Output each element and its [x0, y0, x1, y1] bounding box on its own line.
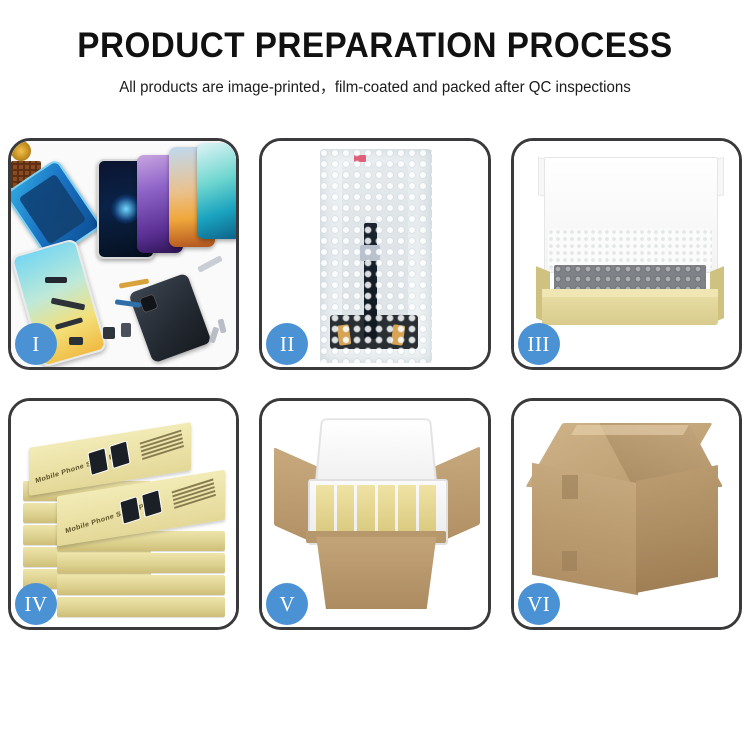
- step-badge-3: III: [518, 323, 560, 365]
- box-stack: Mobile Phone Spare Parts Mobile Pho: [23, 417, 229, 617]
- label-screen-icon: [119, 496, 141, 525]
- carton-tape-seam: [571, 425, 689, 435]
- step-panel-3: III: [511, 138, 742, 370]
- bubble-wrap-bag: [320, 149, 432, 363]
- step-panel-1: I: [8, 138, 239, 370]
- phone-screen-teal: [197, 143, 236, 239]
- box-label-lines: [140, 430, 185, 463]
- carton-tape-patch: [562, 475, 578, 499]
- yellow-box: [316, 485, 334, 535]
- phone-back-housing: [128, 273, 212, 364]
- product-preparation-infographic: PRODUCT PREPARATION PROCESS All products…: [0, 0, 750, 750]
- carton-side-face: [636, 465, 718, 593]
- camera-module-icon: [11, 141, 31, 161]
- label-screen-icon: [87, 447, 109, 476]
- page-title: PRODUCT PREPARATION PROCESS: [19, 28, 732, 65]
- header: PRODUCT PREPARATION PROCESS All products…: [0, 0, 750, 97]
- box-label-lines: [172, 478, 217, 511]
- screwdriver-tool: [217, 318, 226, 333]
- yellow-box: [378, 485, 396, 535]
- screwdriver-tool: [209, 326, 220, 343]
- box-label-screens: [87, 440, 130, 476]
- foam-sheet: [548, 229, 712, 269]
- small-component: [69, 337, 83, 345]
- steps-grid: I II: [8, 138, 742, 630]
- step-panel-2: II: [259, 138, 490, 370]
- carton-front-face: [532, 463, 638, 596]
- step-badge-6: VI: [518, 583, 560, 625]
- box-label-screens: [119, 489, 162, 525]
- step-badge-1: I: [15, 323, 57, 365]
- small-component: [45, 277, 67, 283]
- label-screen-icon: [109, 440, 131, 469]
- small-component: [121, 323, 131, 337]
- yellow-boxes-row: [316, 485, 436, 535]
- stacked-box: [57, 575, 225, 595]
- step-panel-6: VI: [511, 398, 742, 630]
- small-component: [103, 327, 115, 339]
- stacked-box: [57, 597, 225, 617]
- carton-tape-patch: [562, 551, 577, 571]
- step-badge-4: IV: [15, 583, 57, 625]
- label-screen-icon: [141, 489, 163, 518]
- step-panel-5: V: [259, 398, 490, 630]
- tray-front-wall: [542, 297, 718, 325]
- tweezers-tool: [197, 255, 223, 273]
- yellow-box: [419, 485, 437, 535]
- page-subtitle: All products are image-printed，film-coat…: [11, 75, 739, 97]
- foam-lid: [315, 418, 438, 485]
- carton-body: [316, 537, 436, 609]
- bubble-texture: [320, 149, 432, 363]
- yellow-box: [337, 485, 355, 535]
- stacked-box: [57, 553, 225, 573]
- yellow-box: [398, 485, 416, 535]
- yellow-box: [357, 485, 375, 535]
- step-panel-4: Mobile Phone Spare Parts Mobile Pho: [8, 398, 239, 630]
